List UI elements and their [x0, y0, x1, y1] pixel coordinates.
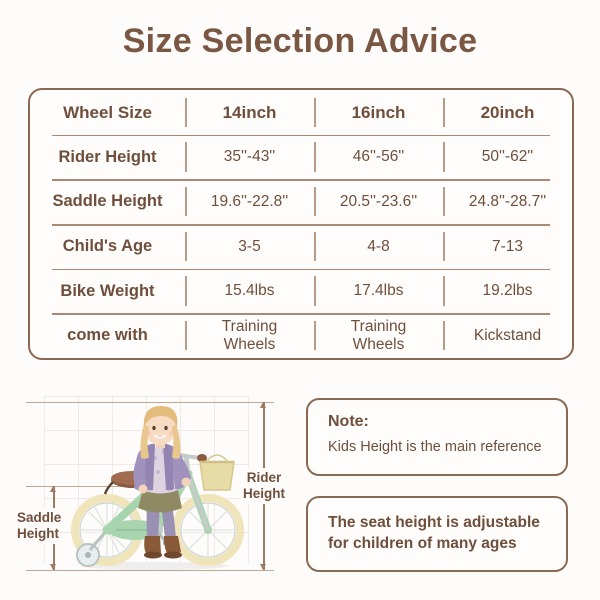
table-row: Bike Weight 15.4lbs 17.4lbs 19.2lbs — [30, 269, 572, 314]
table-cell: Kickstand — [443, 313, 572, 358]
note-box-secondary: The seat height is adjustable for childr… — [306, 496, 568, 572]
table-cell: 15.4lbs — [185, 269, 314, 314]
table-cell: 20inch — [443, 90, 572, 135]
page-title: Size Selection Advice — [0, 22, 600, 61]
row-label: Saddle Height — [30, 179, 185, 224]
table-row: Wheel Size 14inch 16inch 20inch — [30, 90, 572, 135]
table-cell: 17.4lbs — [314, 269, 443, 314]
table-cell: 50''-62'' — [443, 135, 572, 180]
table-cell: 19.6''-22.8'' — [185, 179, 314, 224]
row-label: Wheel Size — [30, 90, 185, 135]
table-cell: 16inch — [314, 90, 443, 135]
note-text: Kids Height is the main reference — [328, 438, 546, 457]
table-cell: Training Wheels — [314, 313, 443, 358]
saddle-height-label: Saddle Height — [16, 508, 60, 544]
table-cell: Training Wheels — [185, 313, 314, 358]
row-label: come with — [30, 313, 185, 358]
child-with-bike-image — [60, 400, 250, 570]
size-advice-page: Size Selection Advice Wheel Size 14inch … — [0, 0, 600, 600]
bike-illustration-svg — [60, 400, 250, 570]
measurement-illustration: Rider Height Saddle Height — [14, 390, 286, 586]
guide-line-ground — [26, 570, 274, 571]
table-cell: 19.2lbs — [443, 269, 572, 314]
table-row: Child's Age 3-5 4-8 7-13 — [30, 224, 572, 269]
row-label: Child's Age — [30, 224, 185, 269]
size-spec-table: Wheel Size 14inch 16inch 20inch Rider He… — [28, 88, 574, 360]
table-cell: 4-8 — [314, 224, 443, 269]
note-text-secondary: The seat height is adjustable for childr… — [328, 513, 540, 555]
table-cell: 3-5 — [185, 224, 314, 269]
note-title: Note: — [328, 413, 546, 431]
table-cell: 14inch — [185, 90, 314, 135]
table-row: come with Training Wheels Training Wheel… — [30, 313, 572, 358]
table-cell: 20.5''-23.6'' — [314, 179, 443, 224]
row-label: Bike Weight — [30, 269, 185, 314]
row-label: Rider Height — [30, 135, 185, 180]
table-cell: 24.8''-28.7'' — [443, 179, 572, 224]
table-cell: 35''-43'' — [185, 135, 314, 180]
note-box-primary: Note: Kids Height is the main reference — [306, 398, 568, 476]
rider-height-label: Rider Height — [240, 468, 288, 504]
table-cell: 7-13 — [443, 224, 572, 269]
table-row: Rider Height 35''-43'' 46''-56'' 50''-62… — [30, 135, 572, 180]
table-cell: 46''-56'' — [314, 135, 443, 180]
table-row: Saddle Height 19.6''-22.8'' 20.5''-23.6'… — [30, 179, 572, 224]
